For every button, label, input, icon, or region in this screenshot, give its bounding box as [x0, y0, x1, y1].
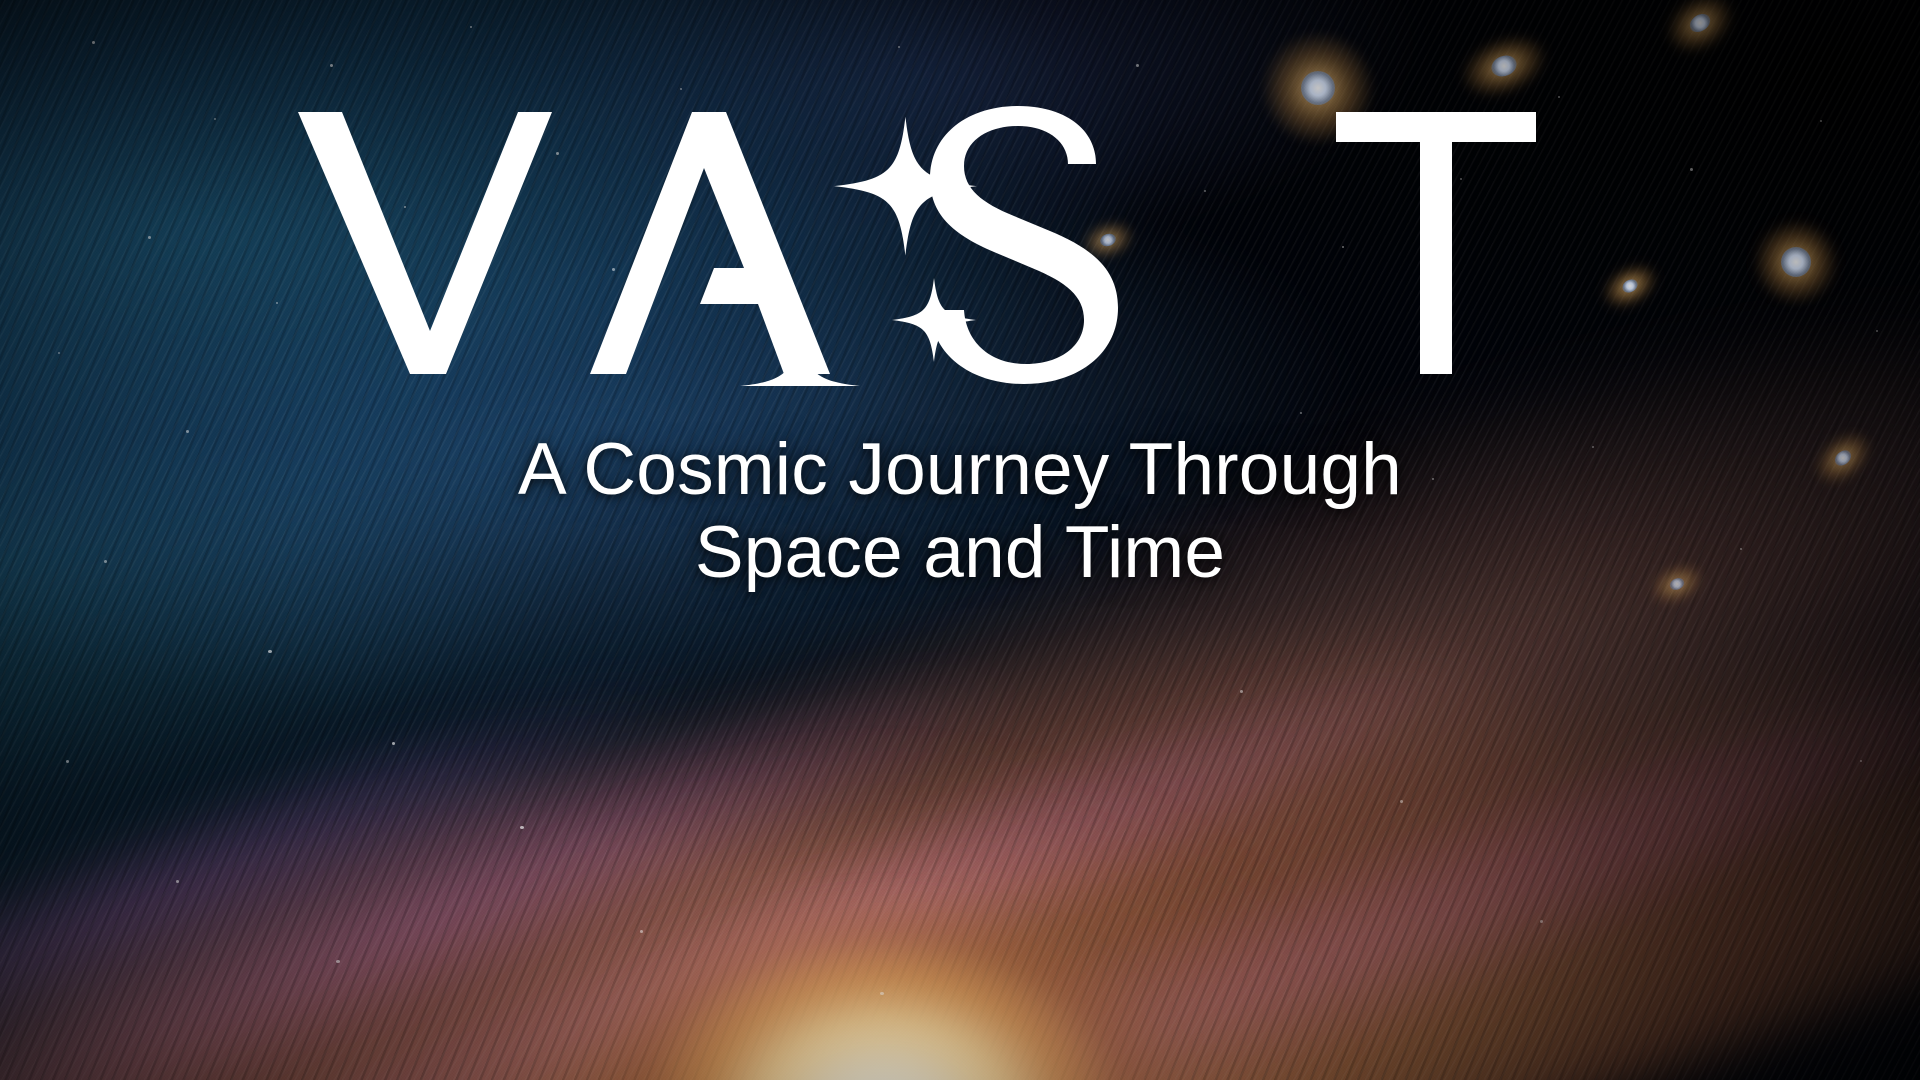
wordmark-letter-v [298, 112, 552, 374]
subtitle-line-1: A Cosmic Journey Through [0, 428, 1920, 511]
poster-content: A Cosmic Journey Through Space and Time [0, 0, 1920, 1080]
wordmark-letter-a [590, 112, 830, 374]
wordmark-letter-s [930, 106, 1118, 384]
wordmark-svg [290, 96, 1630, 386]
sparkle-medium-icon [740, 326, 860, 386]
wordmark-letter-t [1336, 112, 1536, 374]
poster-subtitle: A Cosmic Journey Through Space and Time [0, 428, 1920, 594]
wordmark-vast [0, 96, 1920, 396]
poster-canvas: A Cosmic Journey Through Space and Time [0, 0, 1920, 1080]
subtitle-line-2: Space and Time [0, 511, 1920, 594]
